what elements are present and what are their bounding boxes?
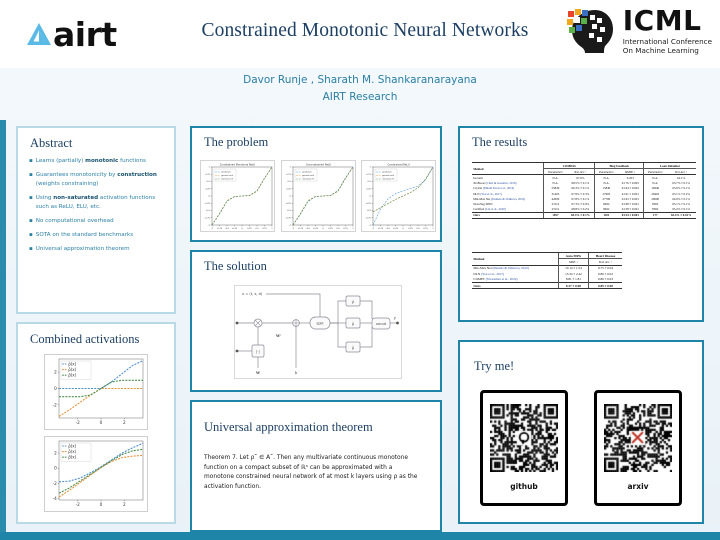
icml-title: ICML [623,8,712,35]
solution-title: The solution [204,259,267,274]
panel-the-problem: The problem Constrained Monotone ReLU-1-… [190,126,442,242]
svg-text:2: 2 [54,451,57,456]
results-table-2-wrapper: MethodAuto MPGHeart DiseaseMSE ↓Test Acc… [472,252,622,289]
page-title: Constrained Monotonic Neural Networks [170,20,560,42]
bullet-dot-icon: ▪ [29,171,33,188]
svg-text:ρ̃: ρ̃ [352,346,354,350]
svg-text:0.75: 0.75 [205,174,210,176]
bullet-dot-icon: ▪ [29,217,33,226]
abstract-bullet: ▪Guarantees monotonicity by construction… [29,171,169,188]
svg-text:1: 1 [209,167,211,169]
svg-text:-0.5: -0.5 [386,228,391,230]
svg-text:-0.75: -0.75 [217,228,223,230]
svg-text:-0.75: -0.75 [285,217,291,219]
svg-text:-0.5: -0.5 [286,210,291,212]
svg-text:ground truth: ground truth [302,174,315,177]
panel-try-me: Try me! github arxiv [458,340,704,524]
svg-text:W': W' [275,334,281,338]
svg-text:concat: concat [376,322,387,326]
airt-wordmark: airt [53,18,117,51]
panel-the-solution: The solution x = (t, s, d) split [190,250,442,392]
table-cell-value: 177 [644,212,667,218]
svg-text:-2: -2 [76,420,81,425]
bullet-dot-icon: ▪ [29,194,33,211]
svg-text:1: 1 [370,167,372,169]
problem-title: The problem [204,135,268,150]
svg-text:-1: -1 [369,225,372,227]
abstract-bullet-list: ▪Learns (partially) monotonic functions▪… [29,157,169,259]
svg-text:0.25: 0.25 [247,228,252,230]
table-cell-method: Ours [472,282,558,288]
abstract-bullet-text: Guarantees monotonicity by construction … [36,171,169,188]
table-cell-value: 1057 [544,212,567,218]
svg-text:ρ̃(x): ρ̃(x) [68,373,76,378]
svg-text:-2: -2 [53,402,58,407]
svg-text:-0.25: -0.25 [232,228,238,230]
qr-github-label: github [510,482,538,491]
poster-header: airt Constrained Monotonic Neural Networ… [0,0,720,68]
svg-text:ρ̂: ρ̂ [352,322,354,326]
svg-text:-0.25: -0.25 [285,203,291,205]
svg-text:0: 0 [209,196,211,198]
svg-text:monotone fit: monotone fit [221,178,233,181]
airt-triangle-icon [26,21,52,47]
svg-text:monotone fit: monotone fit [302,178,314,181]
svg-text:-1: -1 [211,228,214,230]
svg-text:0: 0 [289,196,291,198]
table-cell-value: 69.3% ± 0.1% [567,212,595,218]
abstract-bullet-text: SOTA on the standard benchmarks [36,231,133,240]
svg-text:x = (t, s, d): x = (t, s, d) [242,292,263,296]
abstract-bullet-text: Using non-saturated activation functions… [36,194,169,211]
svg-text:ρ̂(x): ρ̂(x) [68,367,76,372]
svg-text:2: 2 [123,420,126,425]
bottom-accent-bar [0,532,720,540]
table-header-cell: Method [472,253,558,266]
svg-text:Constrained ReLU: Constrained ReLU [387,163,409,167]
svg-text:0.75: 0.75 [286,174,291,176]
qr-card-github[interactable]: github [480,390,568,506]
abstract-bullet: ▪SOTA on the standard benchmarks [29,231,169,240]
table-cell-method: Ours [472,212,544,218]
abstract-bullet: ▪No computational overhead [29,217,169,226]
svg-text:ρ̆: ρ̆ [352,300,354,304]
svg-text:0: 0 [100,420,103,425]
svg-text:0.75: 0.75 [423,228,428,230]
svg-text:2: 2 [54,370,57,375]
svg-text:-4: -4 [53,496,58,501]
svg-text:0.5: 0.5 [416,228,420,230]
qr-arxiv-icon[interactable] [604,404,672,472]
svg-text:0: 0 [241,228,243,230]
bullet-dot-icon: ▪ [29,245,33,254]
svg-text:0.25: 0.25 [366,188,371,190]
svg-text:-0.5: -0.5 [306,228,311,230]
table-row: Ours8.37 ± 0.080.89 ± 0.00 [472,282,622,288]
results-table-1: MethodCOMPASBlog FeedbackLoan DefaulterP… [472,162,696,219]
svg-text:0.5: 0.5 [368,181,372,183]
svg-text:monotone fit: monotone fit [382,178,394,181]
svg-text:0: 0 [54,386,57,391]
svg-text:prediction: prediction [302,171,312,174]
svg-text:0: 0 [370,196,372,198]
svg-text:-0.75: -0.75 [205,217,211,219]
abstract-bullet-text: No computational overhead [36,217,114,226]
svg-text:ground truth: ground truth [382,174,395,177]
icml-head-icon [565,6,619,58]
combined-activations-title: Combined activations [30,332,139,347]
combined-chart-1: -202-202ρ̆(x)ρ̂(x)ρ̃(x) [44,354,148,430]
authors-block: Davor Runje , Sharath M. Shankaranarayan… [0,72,720,107]
abstract-bullet-text: Universal approximation theorem [36,245,130,254]
abstract-title: Abstract [30,136,72,151]
panel-combined-activations: Combined activations -202-202ρ̆(x)ρ̂(x)ρ… [16,322,176,524]
icml-subtitle-line1: International Conference [623,37,712,46]
svg-text:1: 1 [352,228,354,230]
table-cell-value: 8.37 ± 0.08 [558,282,588,288]
svg-text:-0.5: -0.5 [206,210,211,212]
table-header-cell: Method [472,163,544,175]
bullet-dot-icon: ▪ [29,231,33,240]
svg-text:0.25: 0.25 [286,188,291,190]
qr-arxiv-label: arxiv [627,482,648,491]
svg-text:-0.25: -0.25 [366,203,372,205]
results-table-2: MethodAuto MPGHeart DiseaseMSE ↓Test Acc… [472,252,622,289]
svg-text:ρ̆(x): ρ̆(x) [68,361,76,366]
svg-text:-0.5: -0.5 [367,210,372,212]
svg-text:-1: -1 [292,228,295,230]
svg-text:Constrained Monotone ReLU: Constrained Monotone ReLU [220,163,256,167]
icml-subtitle: International Conference On Machine Lear… [623,37,712,56]
svg-text:2: 2 [123,502,126,507]
svg-text:ρ̆(x): ρ̆(x) [68,443,76,448]
svg-text:0.25: 0.25 [408,228,413,230]
svg-text:0: 0 [100,502,103,507]
author-names: Davor Runje , Sharath M. Shankaranarayan… [0,72,720,89]
combined-chart-2: -202-4-202ρ̆(x)ρ̂(x)ρ̃(x) [44,436,148,512]
bullet-dot-icon: ▪ [29,157,33,166]
abstract-bullet-text: Learns (partially) monotonic functions [36,157,146,166]
tryme-title: Try me! [474,359,514,374]
icml-logo: ICML International Conference On Machine… [565,4,712,60]
icml-text-block: ICML International Conference On Machine… [623,8,712,56]
svg-text:ρ̂(x): ρ̂(x) [68,449,76,454]
panel-the-results: The results MethodCOMPASBlog FeedbackLoa… [458,126,704,322]
problem-charts: Constrained Monotone ReLU-1-0.75-0.5-0.2… [200,160,436,232]
svg-text:-2: -2 [53,481,58,486]
svg-text:0.75: 0.75 [262,228,267,230]
svg-text:0: 0 [402,228,404,230]
table-cell-value: 1101 [595,212,618,218]
svg-text:-0.25: -0.25 [393,228,399,230]
svg-text:0.25: 0.25 [328,228,333,230]
svg-text:y: y [393,316,396,320]
problem-chart-3: Constrained ReLU-1-0.75-0.5-0.2500.250.5… [361,160,436,232]
problem-chart-1: Constrained Monotone ReLU-1-0.75-0.5-0.2… [200,160,275,232]
abstract-bullet: ▪Learns (partially) monotonic functions [29,157,169,166]
results-table-1-wrapper: MethodCOMPASBlog FeedbackLoan DefaulterP… [472,162,696,219]
svg-text:-0.25: -0.25 [312,228,318,230]
svg-text:-0.25: -0.25 [205,203,211,205]
svg-text:-0.75: -0.75 [378,228,384,230]
table-cell-value: 0.154 ± 0.001 [617,212,643,218]
svg-text:0.5: 0.5 [207,181,211,183]
svg-text:prediction: prediction [221,171,231,174]
svg-text:0: 0 [322,228,324,230]
qr-github-icon[interactable] [490,404,558,472]
svg-text:0.75: 0.75 [366,174,371,176]
abstract-bullet: ▪Using non-saturated activation function… [29,194,169,211]
panel-universal-approximation-theorem: Universal approximation theorem Theorem … [190,400,442,532]
uat-theorem-text: Theorem 7. Let ρ˘ ∈ A˘. Then any multiva… [204,454,422,492]
svg-text:0.5: 0.5 [336,228,340,230]
svg-text:1: 1 [271,228,273,230]
svg-text:-0.75: -0.75 [297,228,303,230]
svg-text:0.5: 0.5 [287,181,291,183]
svg-text:0.5: 0.5 [255,228,259,230]
svg-text:0.25: 0.25 [205,188,210,190]
abstract-bullet: ▪Universal approximation theorem [29,245,169,254]
svg-text:ρ̃(x): ρ̃(x) [68,455,76,460]
combined-activation-charts: -202-202ρ̆(x)ρ̂(x)ρ̃(x) -202-4-202ρ̆(x)ρ… [18,354,174,518]
uat-title: Universal approximation theorem [204,420,373,435]
problem-chart-2: Unconstrained ReLU-1-0.75-0.5-0.2500.250… [281,160,356,232]
svg-text:split: split [316,322,324,326]
svg-text:1: 1 [289,167,291,169]
airt-logo: airt [26,14,117,54]
svg-text:|·|: |·| [256,350,260,354]
results-title: The results [472,135,527,150]
svg-text:prediction: prediction [382,171,392,174]
left-accent-bar [0,120,6,540]
icml-subtitle-line2: On Machine Learning [623,46,699,55]
svg-text:-0.5: -0.5 [225,228,230,230]
panel-abstract: Abstract ▪Learns (partially) monotonic f… [16,126,176,314]
poster-root: airt Constrained Monotonic Neural Networ… [0,0,720,540]
svg-text:-1: -1 [372,228,375,230]
table-row: Ours105769.3% ± 0.1%11010.154 ± 0.001177… [472,212,696,218]
author-affiliation: AIRT Research [0,89,720,106]
svg-text:Unconstrained ReLU: Unconstrained ReLU [305,163,330,167]
qr-code-row: github arxiv [460,390,702,506]
solution-architecture-diagram: x = (t, s, d) split ρ̆ [234,285,402,379]
table-cell-value: 65.4% ± 0.01% [666,212,696,218]
svg-text:1: 1 [432,228,434,230]
svg-text:ground truth: ground truth [221,174,234,177]
svg-text:0: 0 [54,466,57,471]
svg-text:-1: -1 [288,225,291,227]
qr-card-arxiv[interactable]: arxiv [594,390,682,506]
table-cell-value: 0.89 ± 0.00 [588,282,622,288]
svg-text:0.75: 0.75 [343,228,348,230]
svg-text:-1: -1 [208,225,211,227]
svg-text:-0.75: -0.75 [366,217,372,219]
svg-text:-2: -2 [76,502,81,507]
